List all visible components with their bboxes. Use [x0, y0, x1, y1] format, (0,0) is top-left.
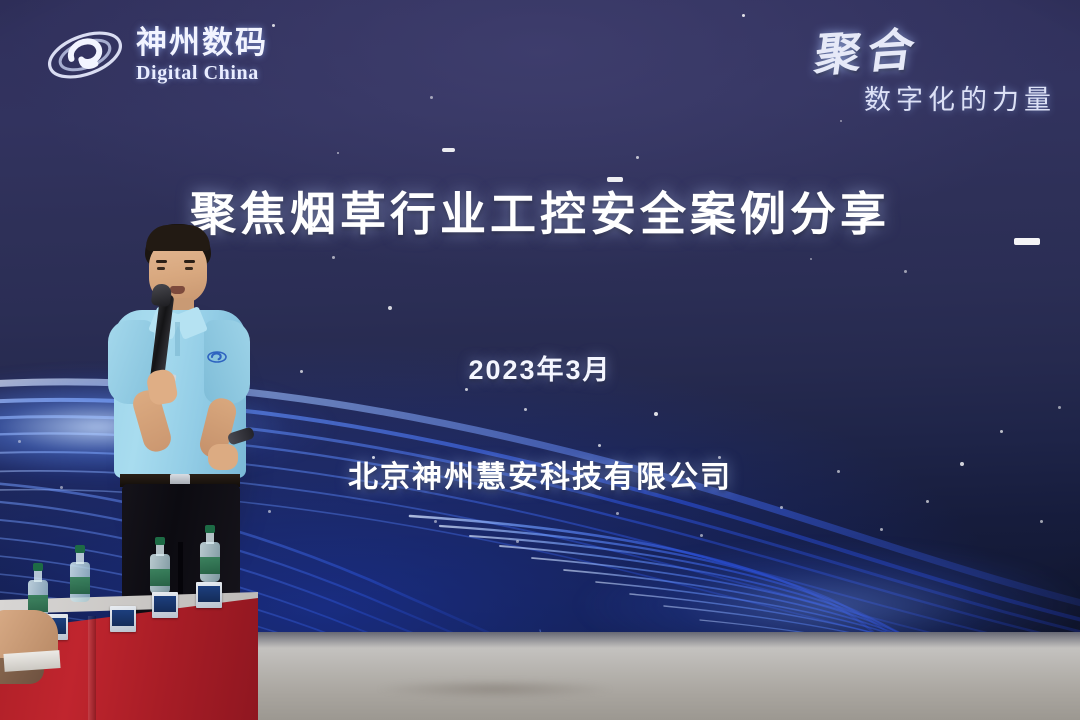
speaker-brow-right	[184, 260, 195, 263]
slogan-calligraphy: 聚合	[811, 13, 925, 85]
stage-photo: 神州数码 Digital China 聚合 数字化的力量 聚焦烟草行业工控安全案…	[0, 0, 1080, 720]
speaker-eye-right	[185, 267, 193, 270]
brand-logo: 神州数码 Digital China	[44, 20, 268, 90]
floor-smudge	[330, 676, 660, 702]
brand-name-cn: 神州数码	[136, 27, 268, 58]
brand-name-en: Digital China	[136, 63, 268, 83]
speaker-mouth	[170, 286, 185, 294]
name-card	[110, 606, 136, 632]
event-slogan: 聚合 数字化的力量	[816, 16, 1056, 117]
water-bottle	[70, 544, 90, 602]
speaker-hand-right	[208, 444, 238, 470]
speaker-eye-left	[157, 267, 165, 270]
tablecloth-fold	[88, 616, 96, 720]
name-card	[196, 582, 222, 608]
water-bottle	[200, 524, 220, 582]
name-card	[152, 592, 178, 618]
speaker-shirt-placket	[175, 322, 180, 356]
chest-emblem-icon	[206, 348, 228, 366]
speaker-hair-top	[146, 225, 210, 251]
speaker-brow-left	[156, 260, 167, 263]
slogan-subtitle: 数字化的力量	[816, 78, 1056, 117]
spiral-galaxy-logo-icon	[44, 20, 126, 90]
microphone-head	[151, 283, 173, 307]
water-bottle	[150, 536, 170, 594]
